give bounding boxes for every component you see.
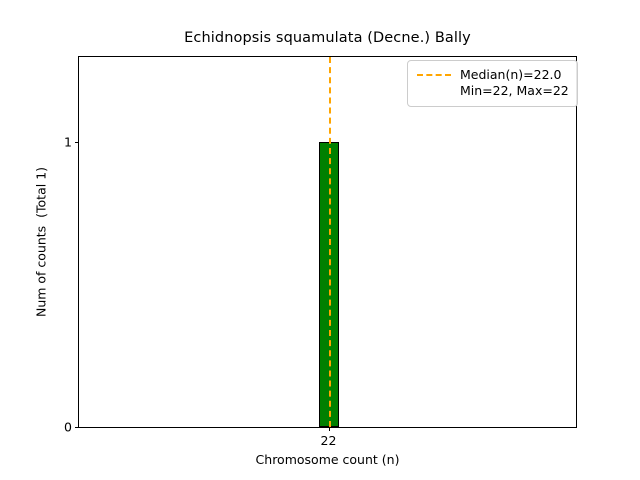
legend-label-median: Median(n)=22.0 [460, 67, 569, 83]
xtick-label-22: 22 [321, 433, 337, 448]
xtick-mark-22 [329, 427, 330, 431]
y-axis-label-wrap: Num of counts (Total 1) [0, 56, 227, 428]
legend-row: Median(n)=22.0 Min=22, Max=22 [416, 67, 569, 99]
legend-label-minmax: Min=22, Max=22 [460, 83, 569, 99]
chart-legend: Median(n)=22.0 Min=22, Max=22 [407, 60, 578, 107]
y-axis-label: Num of counts (Total 1) [34, 167, 49, 317]
x-axis-label: Chromosome count (n) [78, 452, 577, 467]
chart-title: Echidnopsis squamulata (Decne.) Bally [78, 30, 577, 46]
legend-texts: Median(n)=22.0 Min=22, Max=22 [460, 67, 569, 99]
median-line [329, 57, 331, 427]
dashed-line-icon [416, 67, 452, 83]
chart-figure: Echidnopsis squamulata (Decne.) Bally 0 … [0, 0, 640, 480]
